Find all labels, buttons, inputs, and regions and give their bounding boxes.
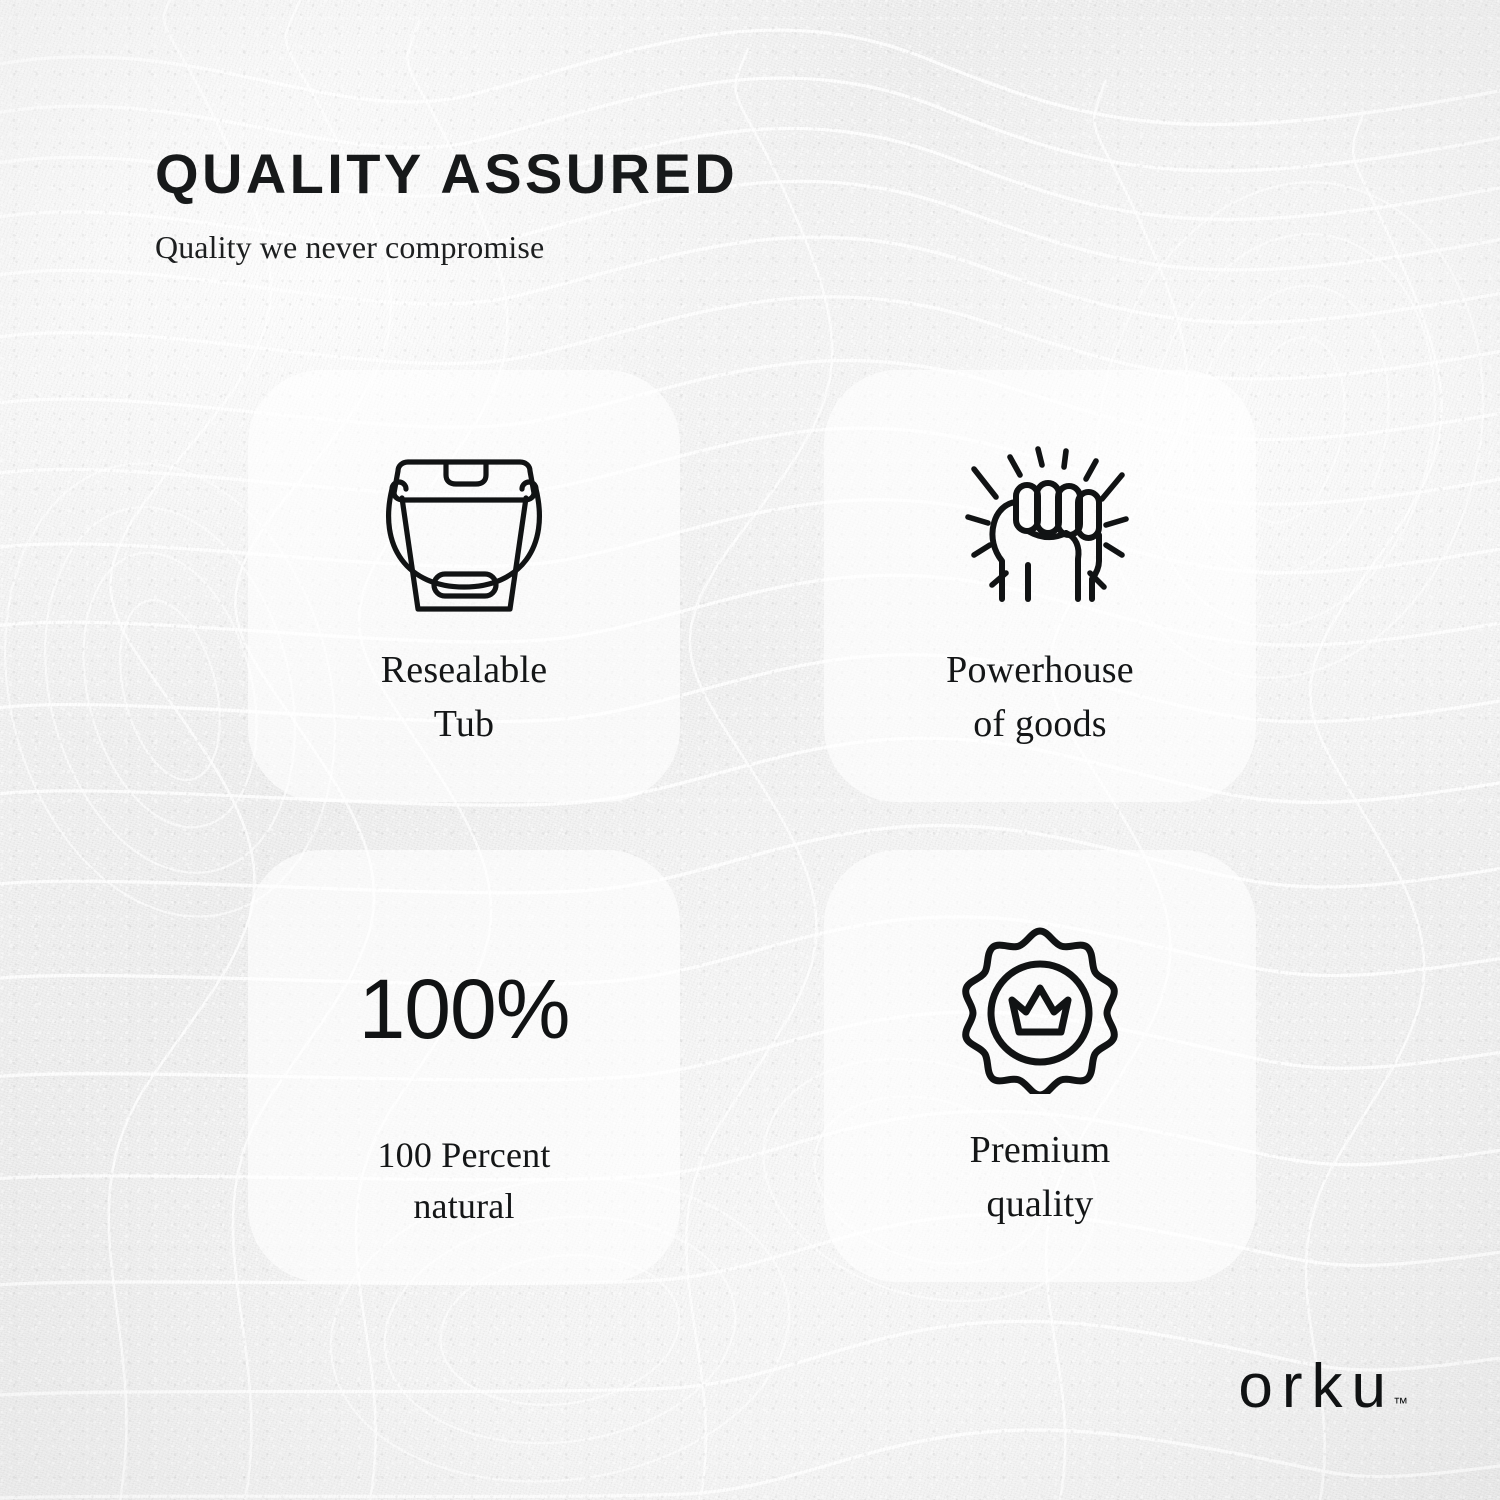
feature-label: Premium quality (970, 1124, 1111, 1232)
brand-name: orku (1238, 1356, 1395, 1418)
feature-card-100-percent-natural: 100% 100 Percent natural (248, 850, 680, 1282)
quality-assured-infographic: QUALITY ASSURED Quality we never comprom… (0, 0, 1500, 1500)
brand-logo: orku ™ (1238, 1356, 1408, 1418)
stat-value: 100% (359, 967, 570, 1051)
page-subtitle: Quality we never compromise (155, 229, 738, 266)
feature-card-powerhouse: Powerhouse of goods (824, 370, 1256, 802)
feature-card-resealable-tub: Resealable Tub (248, 370, 680, 802)
feature-grid: Resealable Tub (248, 370, 1256, 1282)
feature-label: 100 Percent natural (377, 1130, 550, 1232)
raised-fist-icon (950, 434, 1130, 624)
trademark-symbol: ™ (1393, 1395, 1408, 1412)
page-title: QUALITY ASSURED (155, 146, 738, 202)
feature-label: Resealable Tub (381, 644, 548, 752)
header-block: QUALITY ASSURED Quality we never comprom… (155, 146, 738, 266)
feature-label: Powerhouse of goods (946, 644, 1134, 752)
tub-icon (358, 434, 570, 624)
premium-badge-crown-icon (955, 914, 1125, 1104)
feature-card-premium-quality: Premium quality (824, 850, 1256, 1282)
percentage-stat: 100% (359, 914, 570, 1104)
